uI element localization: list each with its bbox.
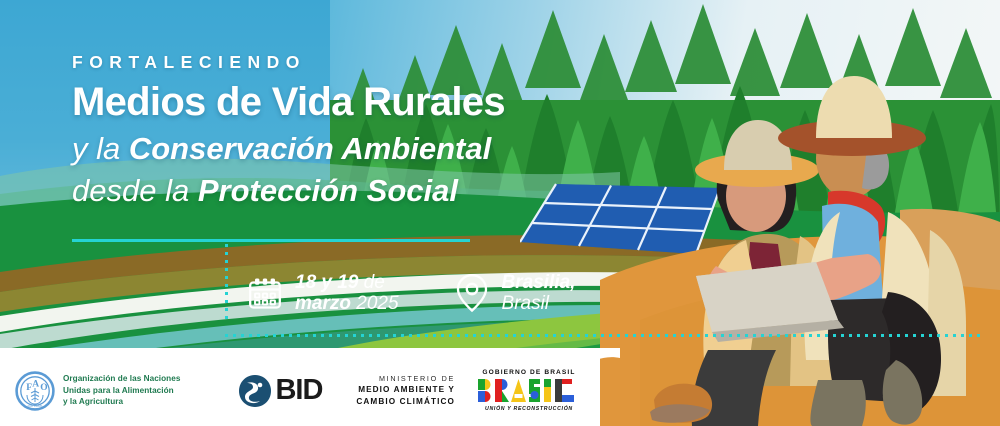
fao-emblem-icon: F A O FIAT PANIS (15, 371, 55, 411)
headline-block: FORTALECIENDO Medios de Vida Rurales y l… (72, 52, 592, 211)
calendar-icon (248, 276, 282, 310)
headline-line2: y la Conservación Ambiental (72, 129, 592, 169)
event-banner: FORTALECIENDO Medios de Vida Rurales y l… (0, 0, 1000, 426)
fao-logo-text: Organización de las Naciones Unidas para… (63, 373, 180, 408)
headline-line2-strong: Conservación Ambiental (129, 131, 491, 166)
fao-logo[interactable]: F A O FIAT PANIS Organización de las Nac… (15, 371, 180, 411)
dotted-vertical-divider (225, 244, 228, 319)
event-location: Brasilia, Brasil (455, 272, 576, 315)
bid-wordmark: BID (275, 374, 322, 407)
headline-line2-prefix: y la (72, 131, 129, 166)
dotted-horizontal-divider (225, 334, 985, 337)
headline-line1: Medios de Vida Rurales (72, 81, 592, 123)
event-details: 18 y 19 de marzo 2025 Brasilia, Brasil (248, 272, 575, 315)
bid-logo[interactable]: BID (238, 374, 322, 408)
brasil-wordmark-icon (477, 378, 581, 404)
headline-line3: desde la Protección Social (72, 171, 592, 211)
accent-divider-line (72, 239, 470, 242)
people-illustration (600, 30, 1000, 426)
brasil-logo-bottom-text: UNIÓN Y RECONSTRUCCIÓN (477, 406, 581, 412)
map-pin-icon (455, 273, 489, 313)
event-date-de: de (358, 272, 384, 293)
svg-text:FIAT PANIS: FIAT PANIS (28, 404, 43, 408)
bid-emblem-icon (238, 374, 272, 408)
event-date: 18 y 19 de marzo 2025 (248, 272, 399, 315)
eyebrow-text: FORTALECIENDO (72, 52, 592, 73)
ministry-line1: MINISTERIO DE (356, 373, 455, 384)
footer-logo-row: F A O FIAT PANIS Organización de las Nac… (0, 355, 600, 426)
ministry-line3: CAMBIO CLIMÁTICO (356, 396, 455, 408)
event-date-year: 2025 (351, 293, 399, 314)
event-location-country: Brasil (502, 293, 576, 314)
fao-text-line3: y la Agricultura (63, 396, 180, 408)
headline-line3-prefix: desde la (72, 173, 198, 208)
fao-text-line2: Unidas para la Alimentación (63, 385, 180, 397)
brasil-logo-top-text: GOBIERNO DE BRASIL (477, 369, 581, 376)
event-location-city: Brasilia, (502, 272, 576, 293)
headline-line3-strong: Protección Social (198, 173, 458, 208)
event-date-days: 18 y 19 (295, 272, 358, 293)
ministry-logo[interactable]: MINISTERIO DE MEDIO AMBIENTE Y CAMBIO CL… (356, 373, 455, 409)
svg-text:O: O (40, 383, 47, 393)
ministry-line2: MEDIO AMBIENTE Y (356, 384, 455, 396)
svg-text:A: A (32, 379, 39, 389)
event-date-line1: 18 y 19 de (295, 272, 399, 293)
event-location-text: Brasilia, Brasil (502, 272, 576, 315)
event-date-text: 18 y 19 de marzo 2025 (295, 272, 399, 315)
brasil-government-logo[interactable]: GOBIERNO DE BRASIL (477, 369, 581, 412)
event-date-line2: marzo 2025 (295, 293, 399, 314)
fao-text-line1: Organización de las Naciones (63, 373, 180, 385)
event-date-month: marzo (295, 293, 351, 314)
